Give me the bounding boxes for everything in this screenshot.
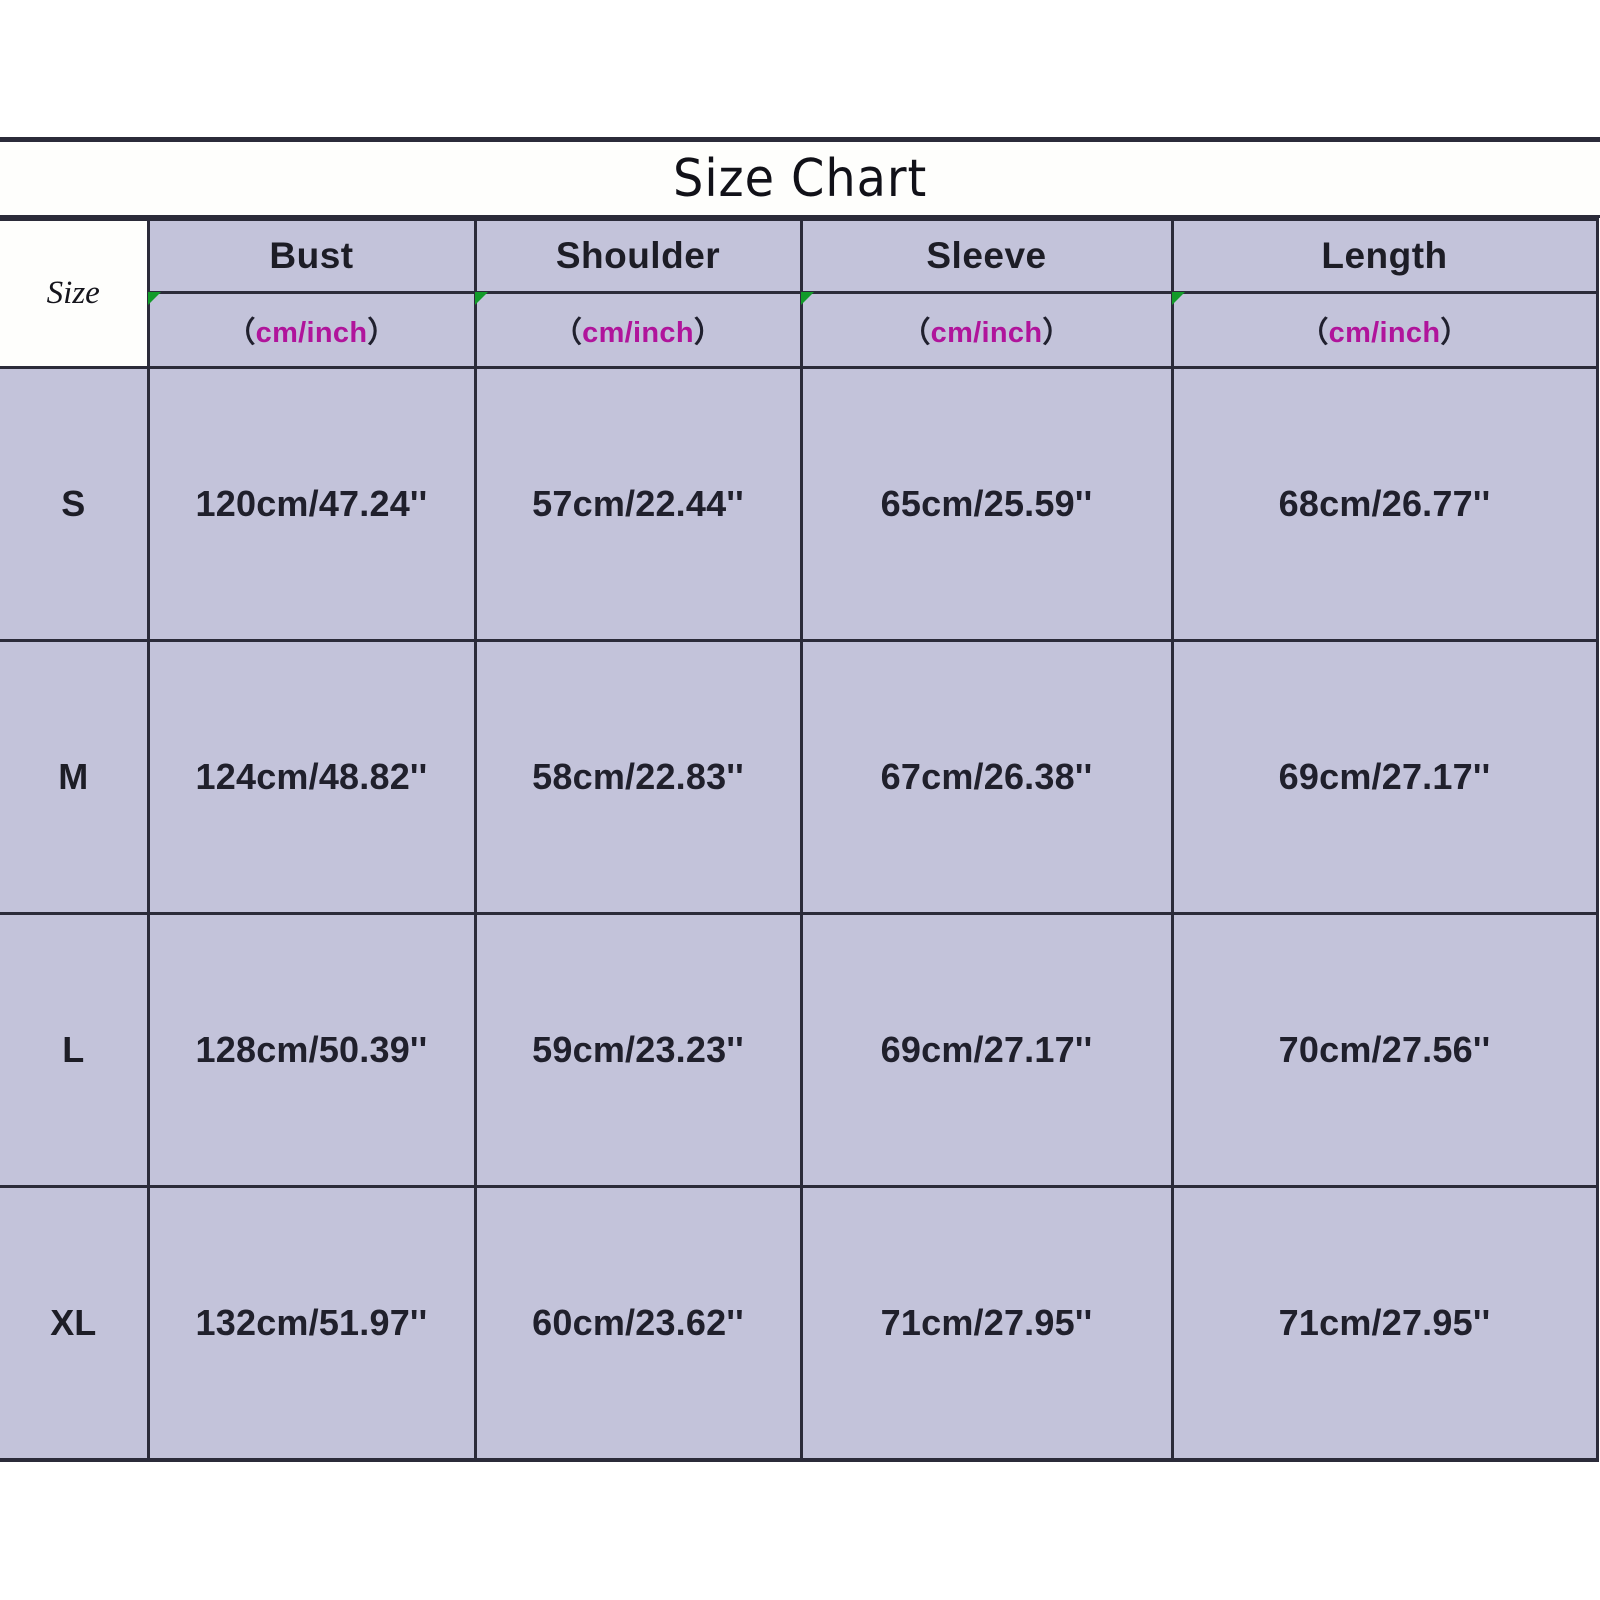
size-chart-page: Size Chart Size Bust Shoulder [0,0,1600,1600]
table-row: XL 132cm/51.97'' 60cm/23.62'' 71cm/27.95… [0,1187,1597,1461]
unit-label-bust: （cm/inch） [226,317,396,349]
cell-shoulder-value: 58cm/22.83'' [532,756,744,797]
cell-sleeve: 65cm/25.59'' [801,368,1172,641]
unit-close-paren: ） [367,317,396,349]
corner-triangle-icon [801,292,814,305]
unit-close-paren: ） [694,317,723,349]
cell-length-value: 71cm/27.95'' [1279,1302,1491,1343]
cell-sleeve-value: 67cm/26.38'' [881,756,1093,797]
cell-bust-value: 132cm/51.97'' [196,1302,428,1343]
column-header-bust-label: Bust [269,235,353,276]
column-header-bust: Bust [148,220,475,293]
unit-value-shoulder: cm/inch [582,317,694,349]
cell-length: 68cm/26.77'' [1172,368,1597,641]
table-unit-row: （cm/inch） （cm/inch） （cm/inch） （cm/inch） [0,293,1597,368]
cell-sleeve-value: 71cm/27.95'' [881,1302,1093,1343]
cell-shoulder: 57cm/22.44'' [475,368,801,641]
cell-shoulder-value: 57cm/22.44'' [532,483,744,524]
cell-length: 69cm/27.17'' [1172,641,1597,914]
unit-label-sleeve: （cm/inch） [901,317,1071,349]
column-header-length: Length [1172,220,1597,293]
corner-triangle-icon [1172,292,1185,305]
column-header-sleeve: Sleeve [801,220,1172,293]
cell-shoulder: 60cm/23.62'' [475,1187,801,1461]
table-row: M 124cm/48.82'' 58cm/22.83'' 67cm/26.38'… [0,641,1597,914]
table-row: L 128cm/50.39'' 59cm/23.23'' 69cm/27.17'… [0,914,1597,1187]
cell-sleeve: 71cm/27.95'' [801,1187,1172,1461]
cell-sleeve: 69cm/27.17'' [801,914,1172,1187]
unit-cell-sleeve: （cm/inch） [801,293,1172,368]
chart-title-band: Size Chart [0,137,1600,218]
unit-cell-shoulder: （cm/inch） [475,293,801,368]
unit-open-paren: （ [226,317,255,349]
cell-length: 70cm/27.56'' [1172,914,1597,1187]
unit-open-paren: （ [901,317,930,349]
cell-sleeve-value: 65cm/25.59'' [881,483,1093,524]
size-chart-table: Size Bust Shoulder Sleeve Length [0,218,1599,1462]
unit-label-shoulder: （cm/inch） [553,317,723,349]
cell-sleeve-value: 69cm/27.17'' [881,1029,1093,1070]
cell-bust-value: 124cm/48.82'' [196,756,428,797]
unit-value-length: cm/inch [1329,317,1441,349]
cell-length-value: 68cm/26.77'' [1279,483,1491,524]
cell-bust: 128cm/50.39'' [148,914,475,1187]
page-title: Size Chart [673,153,927,205]
cell-length: 71cm/27.95'' [1172,1187,1597,1461]
column-header-length-label: Length [1321,235,1447,276]
unit-value-sleeve: cm/inch [931,317,1043,349]
corner-triangle-icon [475,292,488,305]
cell-shoulder: 58cm/22.83'' [475,641,801,914]
row-size-label: M [0,641,148,914]
cell-bust: 120cm/47.24'' [148,368,475,641]
unit-value-bust: cm/inch [256,317,368,349]
cell-length-value: 69cm/27.17'' [1279,756,1491,797]
unit-label-length: （cm/inch） [1299,317,1469,349]
cell-bust-value: 120cm/47.24'' [196,483,428,524]
unit-cell-bust: （cm/inch） [148,293,475,368]
row-size-label: S [0,368,148,641]
row-size-label: XL [0,1187,148,1461]
cell-shoulder-value: 60cm/23.62'' [532,1302,744,1343]
unit-cell-length: （cm/inch） [1172,293,1597,368]
table-header-row: Size Bust Shoulder Sleeve Length [0,220,1597,293]
cell-bust-value: 128cm/50.39'' [196,1029,428,1070]
cell-shoulder-value: 59cm/23.23'' [532,1029,744,1070]
size-column-header-label: Size [47,275,100,311]
unit-open-paren: （ [1299,317,1328,349]
column-header-shoulder-label: Shoulder [556,235,720,276]
column-header-sleeve-label: Sleeve [926,235,1046,276]
column-header-shoulder: Shoulder [475,220,801,293]
cell-length-value: 70cm/27.56'' [1279,1029,1491,1070]
row-size-label: L [0,914,148,1187]
table-row: S 120cm/47.24'' 57cm/22.44'' 65cm/25.59'… [0,368,1597,641]
cell-shoulder: 59cm/23.23'' [475,914,801,1187]
cell-bust: 132cm/51.97'' [148,1187,475,1461]
unit-close-paren: ） [1042,317,1071,349]
unit-open-paren: （ [553,317,582,349]
cell-sleeve: 67cm/26.38'' [801,641,1172,914]
size-column-header-cell: Size [0,220,148,368]
cell-bust: 124cm/48.82'' [148,641,475,914]
unit-close-paren: ） [1440,317,1469,349]
corner-triangle-icon [148,292,161,305]
